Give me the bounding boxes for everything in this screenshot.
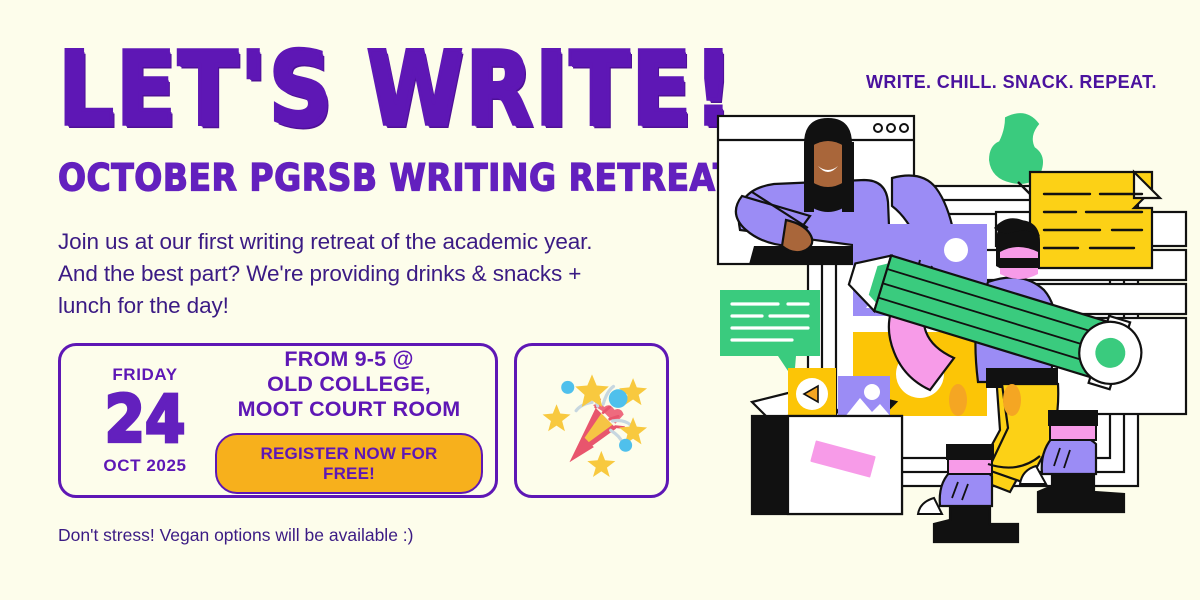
yellow-sticky-note xyxy=(1030,172,1160,268)
party-popper-icon xyxy=(536,365,648,477)
page-title: LET'S WRITE! xyxy=(58,44,713,137)
venue-line-time: FROM 9-5 @ xyxy=(215,347,483,372)
body-description: Join us at our first writing retreat of … xyxy=(58,226,633,322)
event-detail-card: FRIDAY 24 OCT 2025 FROM 9-5 @ OLD COLLEG… xyxy=(58,343,498,498)
date-block: FRIDAY 24 OCT 2025 xyxy=(75,365,215,476)
open-box-with-media-cards xyxy=(752,368,902,514)
left-content-pane: LET'S WRITE! OCTOBER PGRSB WRITING RETRE… xyxy=(0,0,700,600)
event-month-year: OCT 2025 xyxy=(75,456,215,476)
hero-illustration xyxy=(700,100,1200,600)
page-subtitle: OCTOBER PGRSB WRITING RETREAT xyxy=(58,159,700,196)
venue-block: FROM 9-5 @ OLD COLLEGE, MOOT COURT ROOM … xyxy=(215,347,489,494)
venue-line-room: MOOT COURT ROOM xyxy=(215,397,483,422)
event-day-number: 24 xyxy=(75,385,215,453)
footnote-text: Don't stress! Vegan options will be avai… xyxy=(58,525,413,546)
register-button[interactable]: REGISTER NOW FOR FREE! xyxy=(215,433,483,494)
venue-line-building: OLD COLLEGE, xyxy=(215,372,483,397)
green-speech-bubble xyxy=(720,290,820,380)
event-details-row: FRIDAY 24 OCT 2025 FROM 9-5 @ OLD COLLEG… xyxy=(58,343,669,498)
tagline: WRITE. CHILL. SNACK. REPEAT. xyxy=(866,72,1157,93)
party-popper-card xyxy=(514,343,669,498)
